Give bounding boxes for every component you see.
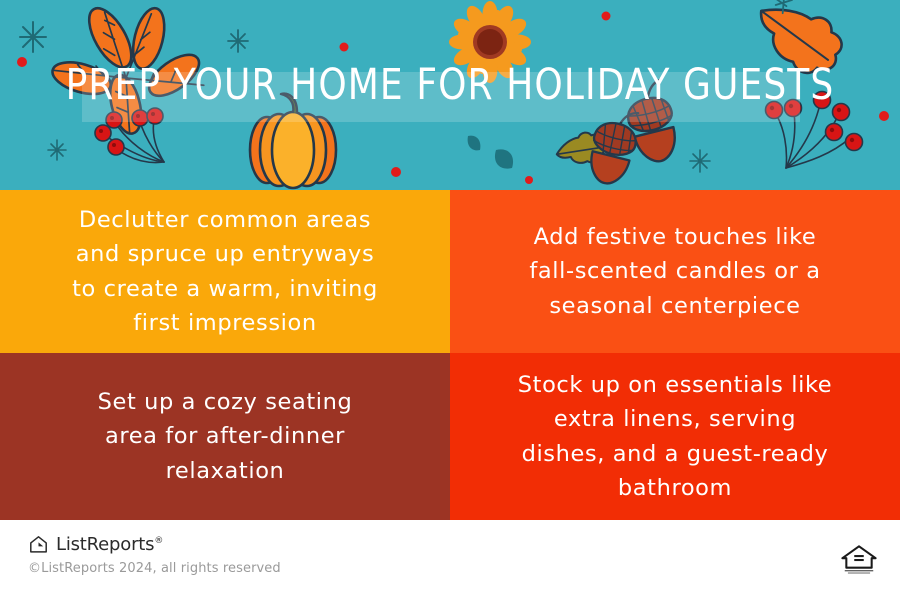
oak-leaf-icon xyxy=(553,129,607,170)
red-dot-icon xyxy=(391,167,401,177)
tip-text: Stock up on essentials like extra linens… xyxy=(518,368,832,505)
red-dot-icon xyxy=(17,57,27,67)
brand-name: ListReports® xyxy=(56,534,163,555)
infographic-canvas: PREP YOUR HOME FOR HOLIDAY GUESTS Declut… xyxy=(0,0,900,600)
small-leaf-icon xyxy=(468,136,513,169)
tip-card-festive-touches: Add festive touches like fall-scented ca… xyxy=(450,190,900,353)
tip-card-stock-essentials: Stock up on essentials like extra linens… xyxy=(450,353,900,520)
red-dot-icon xyxy=(525,176,533,184)
tip-card-cozy-seating: Set up a cozy seating area for after-din… xyxy=(0,353,450,520)
header-banner: PREP YOUR HOME FOR HOLIDAY GUESTS xyxy=(0,0,900,190)
tips-grid: Declutter common areas and spruce up ent… xyxy=(0,190,900,520)
trademark-symbol: ® xyxy=(154,536,163,546)
footer: ListReports® ©ListReports 2024, all righ… xyxy=(0,520,900,600)
copyright-text: ©ListReports 2024, all rights reserved xyxy=(28,561,281,576)
red-dot-icon xyxy=(879,111,889,121)
sparkle-icon xyxy=(20,22,46,52)
tip-text: Declutter common areas and spruce up ent… xyxy=(72,203,378,340)
equal-housing-opportunity-icon xyxy=(840,542,878,576)
page-title: PREP YOUR HOME FOR HOLIDAY GUESTS xyxy=(32,60,869,110)
tip-text: Set up a cozy seating area for after-din… xyxy=(98,385,353,488)
sparkle-icon xyxy=(48,140,66,160)
red-dot-icon xyxy=(340,43,349,52)
red-dot-icon xyxy=(602,12,611,21)
sparkle-icon xyxy=(228,30,248,52)
tip-card-declutter: Declutter common areas and spruce up ent… xyxy=(0,190,450,353)
tip-text: Add festive touches like fall-scented ca… xyxy=(529,220,820,323)
brand-lockup[interactable]: ListReports® xyxy=(28,534,163,555)
listreports-house-icon xyxy=(28,534,49,555)
sparkle-icon xyxy=(690,150,710,172)
